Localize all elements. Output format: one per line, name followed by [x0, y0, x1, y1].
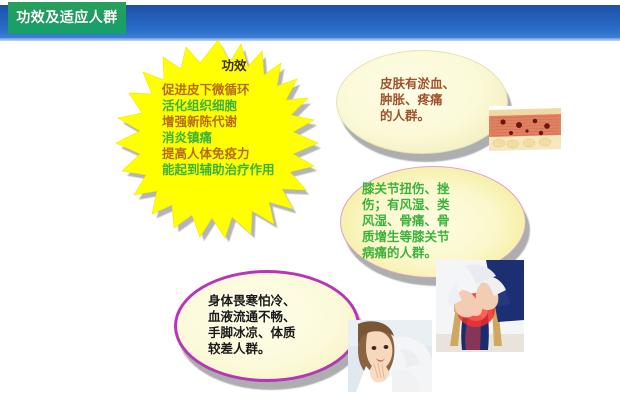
callout-text-block: 身体畏寒怕冷、 血液流通不畅、 手脚冰凉、体质 较差人群。	[174, 270, 360, 382]
starburst-text-block: 功效 促进皮下微循环 活化组织细胞 增强新陈代谢 消炎镇痛 提高人体免疫力 能起…	[112, 38, 330, 268]
starburst-line: 能起到辅助治疗作用	[134, 162, 312, 178]
callout-line: 病痛的人群。	[362, 245, 520, 261]
starburst-line: 消炎镇痛	[134, 130, 312, 146]
callout-line: 较差人群。	[208, 341, 354, 357]
callout-line: 身体畏寒怕冷、	[208, 293, 354, 309]
callout-line: 膝关节扭伤、挫	[362, 181, 520, 197]
callout-line: 血液流通不畅、	[208, 309, 354, 325]
starburst-line: 活化组织细胞	[134, 98, 312, 114]
cold-hands-woman-photo	[348, 320, 432, 392]
page-title-box: 功效及适应人群	[8, 2, 126, 34]
starburst-line: 促进皮下微循环	[134, 82, 312, 98]
callout-text-block: 皮肤有淤血、 肿胀、疼痛 的人群。	[336, 50, 508, 154]
skin-cross-section-photo	[489, 106, 561, 156]
slide-canvas: 功效及适应人群 功效 促进皮下微循环 活化组织细胞 增强新陈代谢 消炎镇痛 提高…	[0, 0, 620, 401]
callout-cold-constitution: 身体畏寒怕冷、 血液流通不畅、 手脚冰凉、体质 较差人群。	[174, 270, 360, 382]
starburst-line: 提高人体免疫力	[134, 146, 312, 162]
starburst-heading: 功效	[156, 60, 312, 73]
starburst-line: 增强新陈代谢	[134, 114, 312, 130]
callout-line: 质增生等膝关节	[362, 229, 520, 245]
callout-skin-congestion: 皮肤有淤血、 肿胀、疼痛 的人群。	[336, 50, 508, 154]
efficacy-starburst: 功效 促进皮下微循环 活化组织细胞 增强新陈代谢 消炎镇痛 提高人体免疫力 能起…	[112, 38, 330, 268]
callout-line: 伤；有风湿、类	[362, 197, 520, 213]
callout-line: 皮肤有淤血、	[380, 76, 508, 92]
callout-line: 风湿、骨痛、骨	[362, 213, 520, 229]
knee-pain-photo	[436, 260, 524, 352]
callout-line: 手脚冰凉、体质	[208, 325, 354, 341]
page-title: 功效及适应人群	[16, 11, 118, 25]
